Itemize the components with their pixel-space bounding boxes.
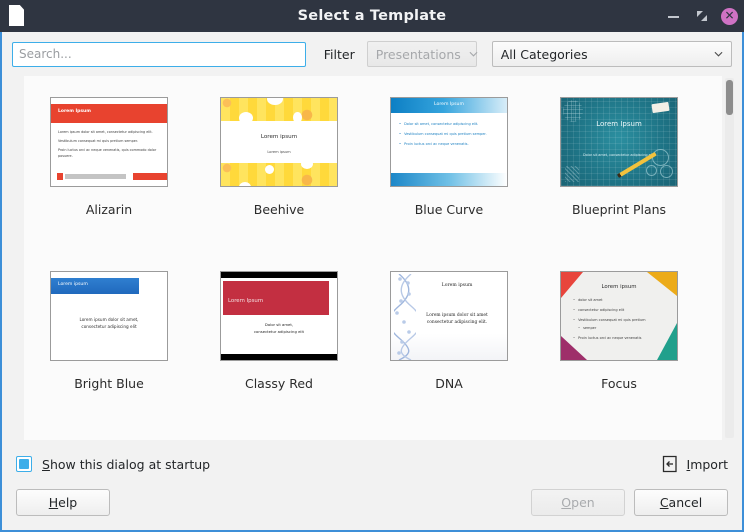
chevron-down-icon: [469, 51, 478, 57]
template-thumbnail[interactable]: Lorem Ipsum Dolor sit amet, consectetur …: [220, 271, 338, 361]
template-grid: Lorem Ipsum Lorem ipsum dolor sit amet, …: [24, 76, 704, 424]
thumb-bullet-cont: semper: [573, 326, 667, 330]
template-name: Bright Blue: [74, 376, 144, 391]
filter-toolbar: Filter Presentations All Categories: [2, 32, 742, 76]
chevron-down-icon: [714, 51, 723, 57]
template-item-blueprint-plans[interactable]: Lorem Ipsum Dolor sit amet, consectetur …: [534, 76, 704, 250]
thumb-title: Lorem Ipsum: [391, 102, 507, 107]
import-icon: [662, 455, 678, 473]
thumb-line: Proin luctus orci ac neque venenatis, qu…: [58, 148, 156, 152]
open-button-rest: pen: [571, 495, 595, 510]
template-name: Classy Red: [245, 376, 313, 391]
template-item-focus[interactable]: Lorem ipsum dolor sit amet consectetur a…: [534, 250, 704, 424]
paper-icon: [651, 102, 669, 113]
cancel-button-rest: ancel: [669, 495, 703, 510]
thumb-bullet: Proin luctus orci ac neque venenatis.: [399, 142, 469, 146]
thumb-bullet: Proin luctus orci ac neque venenatis: [573, 336, 667, 340]
close-icon[interactable]: ✕: [721, 8, 738, 25]
import-label: Import: [687, 457, 729, 472]
category-filter-dropdown[interactable]: All Categories: [492, 41, 732, 67]
maximize-icon[interactable]: [693, 7, 711, 25]
window-title: Select a Template: [0, 0, 744, 32]
template-name: Focus: [601, 376, 637, 391]
document-icon: [9, 5, 27, 27]
template-thumbnail[interactable]: Lorem Ipsum Lorem ipsum dolor sit amet, …: [50, 97, 168, 187]
template-item-blue-curve[interactable]: Lorem Ipsum Dolor sit amet, consectetur …: [364, 76, 534, 250]
application-filter-value: Presentations: [376, 47, 461, 62]
thumb-title: Lorem Ipsum: [228, 298, 263, 304]
template-name: Blue Curve: [415, 202, 484, 217]
show-at-startup-label: Show this dialog at startup: [42, 457, 210, 472]
thumb-line: consectetur adipiscing elit: [221, 329, 337, 336]
help-button[interactable]: Help: [16, 489, 110, 516]
thumb-title: Lorem ipsum: [561, 284, 677, 290]
template-thumbnail[interactable]: Lorem Ipsum Dolor sit amet, consectetur …: [390, 97, 508, 187]
thumb-bullet: Dolor sit amet, consectetur adipiscing e…: [399, 122, 478, 126]
thumb-title: Lorem ipsum: [58, 282, 88, 287]
thumb-title: Lorem ipsum: [411, 283, 503, 288]
thumb-title: Lorem Ipsum: [561, 120, 677, 128]
dialog-footer: Show this dialog at startup Import Help …: [2, 442, 742, 530]
import-button[interactable]: Import: [662, 455, 729, 473]
thumb-bullet: consectetur adipiscing elit: [573, 308, 667, 312]
template-name: Alizarin: [86, 202, 132, 217]
template-item-bright-blue[interactable]: Lorem ipsum Lorem ipsum dolor sit amet, …: [24, 250, 194, 424]
show-at-startup-checkbox[interactable]: [16, 456, 32, 472]
gear-icon: [646, 165, 657, 176]
thumb-title: Lorem ipsum: [221, 134, 337, 140]
template-item-alizarin[interactable]: Lorem Ipsum Lorem ipsum dolor sit amet, …: [24, 76, 194, 250]
show-at-startup-row[interactable]: Show this dialog at startup: [16, 456, 210, 472]
template-thumbnail[interactable]: Lorem ipsum Lorem ipsum: [220, 97, 338, 187]
thumb-line: Lorem ipsum dolor sit amet,: [51, 316, 167, 323]
application-filter-dropdown[interactable]: Presentations: [367, 41, 477, 67]
thumb-line: posuere.: [58, 154, 73, 158]
search-input[interactable]: [12, 42, 306, 67]
thumb-bullet: Vestibulum consequat mi quis pretium: [573, 318, 667, 322]
dialog-body: Filter Presentations All Categories: [0, 32, 744, 532]
thumb-line: Lorem ipsum dolor sit amet, consectetur …: [58, 130, 153, 134]
thumb-title: Lorem Ipsum: [58, 109, 91, 114]
template-name: Beehive: [254, 202, 304, 217]
template-thumbnail[interactable]: Lorem ipsum Lorem ipsum dolor sit amet, …: [50, 271, 168, 361]
template-name: Blueprint Plans: [572, 202, 666, 217]
template-grid-area[interactable]: Lorem Ipsum Lorem ipsum dolor sit amet, …: [24, 76, 722, 440]
minimize-icon[interactable]: [665, 7, 683, 25]
open-button[interactable]: Open: [531, 489, 625, 516]
thumb-subtitle: Lorem ipsum: [221, 150, 337, 154]
template-item-beehive[interactable]: Lorem ipsum Lorem ipsum Beehive: [194, 76, 364, 250]
filter-label: Filter: [324, 47, 355, 62]
help-button-rest: elp: [58, 495, 77, 510]
template-item-classy-red[interactable]: Lorem Ipsum Dolor sit amet, consectetur …: [194, 250, 364, 424]
category-filter-value: All Categories: [501, 47, 588, 62]
thumb-line: consectetur adipiscing elit.: [411, 319, 503, 326]
template-item-dna[interactable]: Lorem ipsum Lorem ipsum dolor sit amet c…: [364, 250, 534, 424]
template-thumbnail[interactable]: Lorem ipsum Lorem ipsum dolor sit amet c…: [390, 271, 508, 361]
thumb-line: consectetur adipiscing elit: [51, 323, 167, 330]
template-thumbnail[interactable]: Lorem ipsum dolor sit amet consectetur a…: [560, 271, 678, 361]
thumb-bullet: Vestibulum consequat mi quis pretium sem…: [399, 132, 487, 136]
select-template-dialog: Select a Template ✕ Filter Presentations: [0, 0, 744, 532]
thumb-line: Lorem ipsum dolor sit amet: [411, 312, 503, 319]
scrollbar-thumb[interactable]: [726, 80, 733, 115]
thumb-line: Vestibulum consequat mi quis pretium sem…: [58, 139, 138, 143]
globe-icon: [563, 100, 583, 122]
template-thumbnail[interactable]: Lorem Ipsum Dolor sit amet, consectetur …: [560, 97, 678, 187]
window-controls: ✕: [665, 0, 738, 32]
window-titlebar: Select a Template ✕: [0, 0, 744, 32]
thumb-bullet: dolor sit amet: [573, 298, 667, 302]
vertical-scrollbar[interactable]: [725, 78, 734, 438]
gear-icon: [660, 165, 673, 178]
template-name: DNA: [435, 376, 463, 391]
thumb-line: Dolor sit amet,: [221, 322, 337, 329]
stamp-icon: [565, 166, 579, 182]
cancel-button[interactable]: Cancel: [634, 489, 728, 516]
